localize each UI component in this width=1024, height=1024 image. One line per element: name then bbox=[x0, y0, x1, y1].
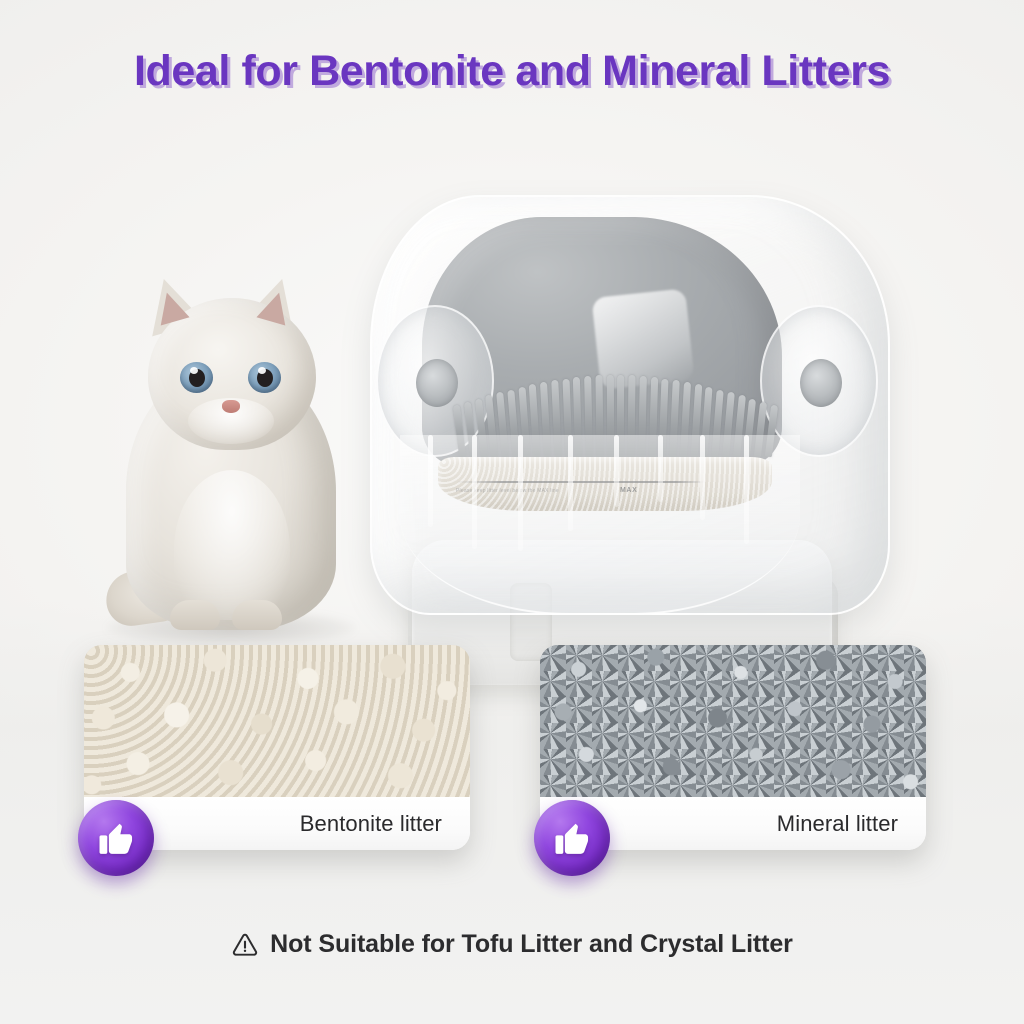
glass-front-panel bbox=[400, 435, 800, 615]
marketing-image-stage: Ideal for Bentonite and Mineral Litters bbox=[0, 0, 1024, 1024]
cat-eye-right bbox=[248, 362, 281, 393]
footer-warning: Not Suitable for Tofu Litter and Crystal… bbox=[0, 930, 1024, 959]
cat-eye-glint-left bbox=[190, 367, 198, 374]
cat-paw-left bbox=[170, 600, 220, 630]
glass-strut bbox=[658, 435, 663, 502]
glass-strut bbox=[744, 435, 749, 544]
glass-strut bbox=[472, 435, 477, 549]
glass-strut bbox=[428, 435, 433, 527]
glass-strut bbox=[614, 435, 619, 507]
glass-strut bbox=[518, 435, 523, 551]
cat-illustration bbox=[96, 270, 366, 650]
cat-eye-left bbox=[180, 362, 213, 393]
drum-hub-core-right bbox=[800, 359, 842, 407]
thumbs-up-icon bbox=[534, 800, 610, 876]
cat-eye-glint-right bbox=[258, 367, 266, 374]
page-title: Ideal for Bentonite and Mineral Litters bbox=[0, 47, 1024, 96]
litter-box-product: Please keep litter level below the MAX l… bbox=[360, 185, 900, 695]
cat-paw-right bbox=[232, 600, 282, 630]
footer-warning-text: Not Suitable for Tofu Litter and Crystal… bbox=[270, 930, 793, 959]
bentonite-label: Bentonite litter bbox=[300, 811, 442, 837]
glass-strut bbox=[700, 435, 705, 520]
mineral-label: Mineral litter bbox=[777, 811, 898, 837]
thumbs-up-icon bbox=[78, 800, 154, 876]
cat-nose bbox=[222, 400, 240, 413]
bentonite-litter-texture bbox=[84, 645, 470, 797]
mineral-litter-texture bbox=[540, 645, 926, 797]
drum-hub-core-left bbox=[416, 359, 458, 407]
warning-triangle-icon bbox=[231, 931, 259, 959]
glass-strut bbox=[568, 435, 573, 531]
cat-chest bbox=[174, 470, 290, 620]
